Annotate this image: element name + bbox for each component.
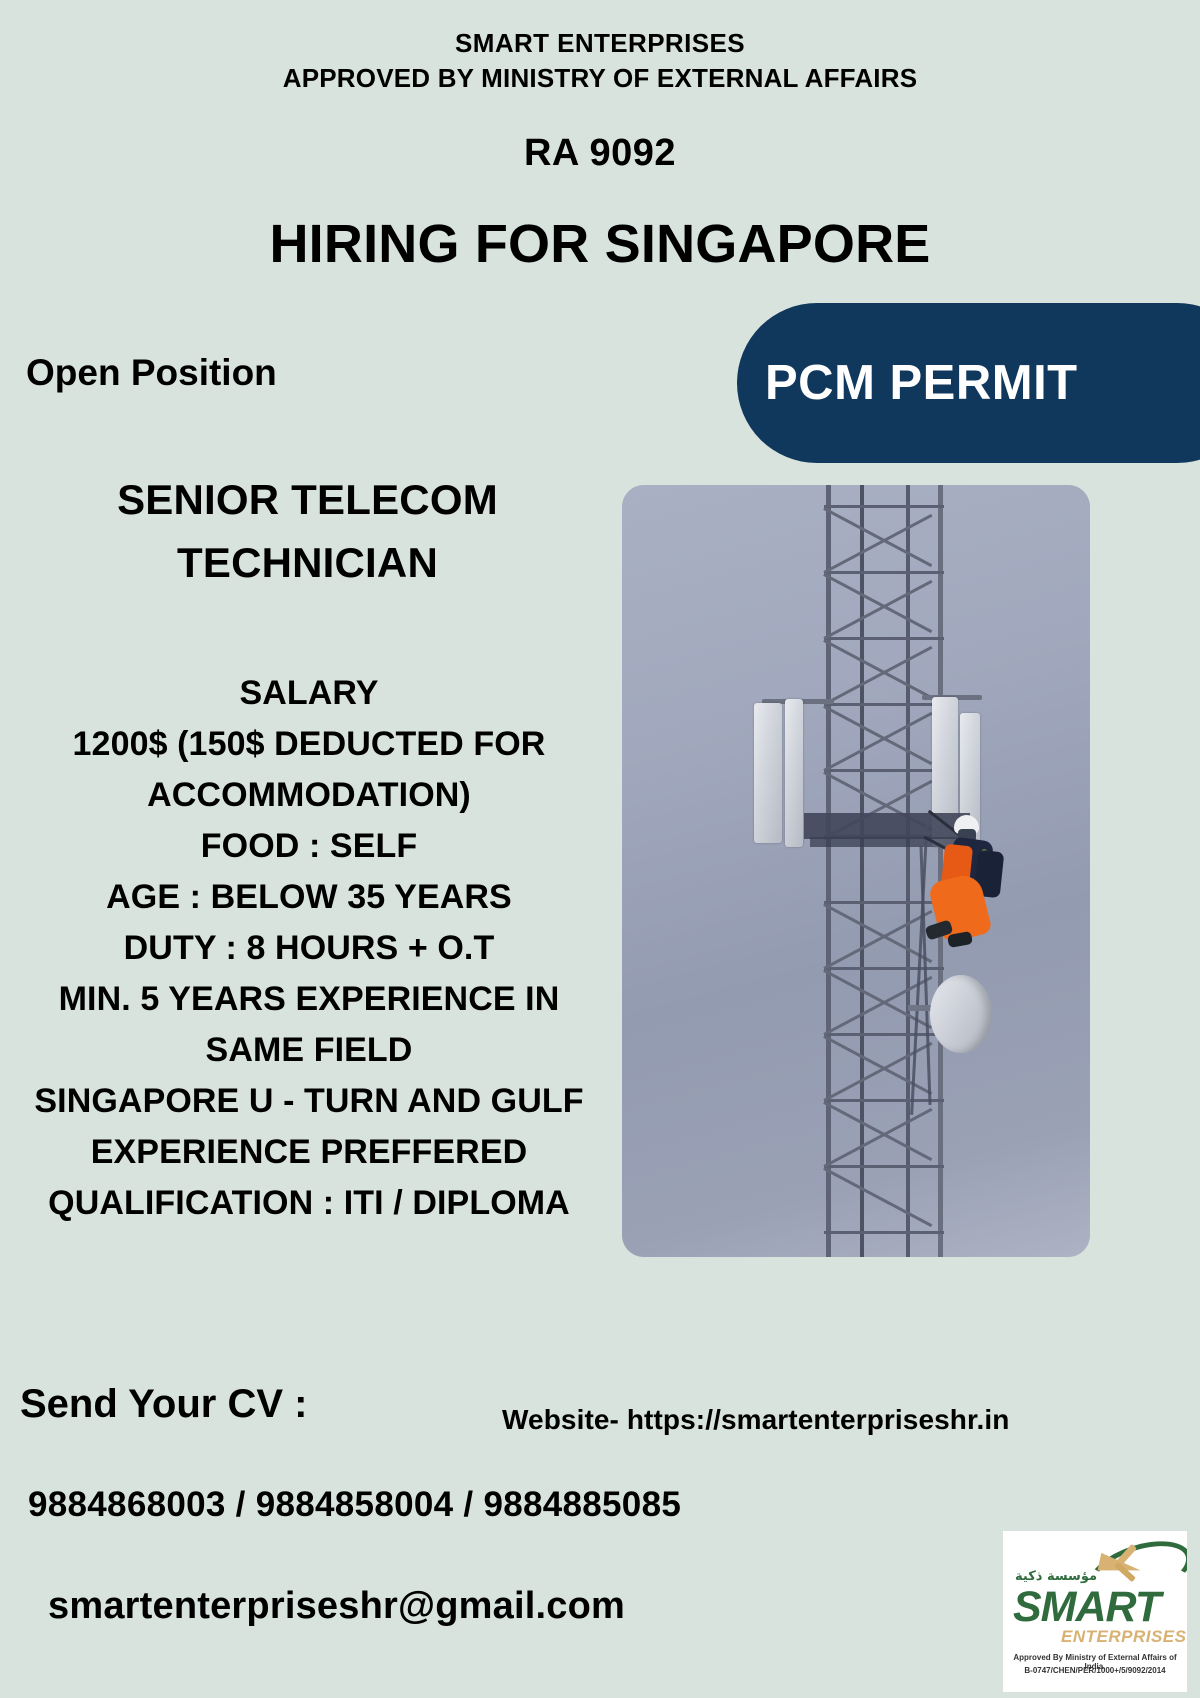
detail-line: FOOD : SELF: [0, 821, 618, 872]
detail-line: EXPERIENCE PREFFERED: [0, 1127, 618, 1178]
microwave-dish: [930, 975, 992, 1053]
detail-line: ACCOMMODATION): [0, 770, 618, 821]
tower-climber-worker: [918, 815, 1014, 955]
detail-line: MIN. 5 YEARS EXPERIENCE IN: [0, 974, 618, 1025]
panel-antenna: [785, 699, 803, 847]
detail-line: DUTY : 8 HOURS + O.T: [0, 923, 618, 974]
company-logo: مؤسسة ذكية SMART ENTERPRISES Approved By…: [1003, 1531, 1187, 1692]
job-title: SENIOR TELECOM TECHNICIAN: [0, 468, 615, 594]
logo-wordmark: SMART: [1013, 1586, 1160, 1629]
detail-line: SINGAPORE U - TURN AND GULF: [0, 1076, 618, 1127]
detail-line: SAME FIELD: [0, 1025, 618, 1076]
telecom-tower-photo: [622, 485, 1090, 1257]
recruitment-poster: SMART ENTERPRISES APPROVED BY MINISTRY O…: [0, 0, 1200, 1698]
ra-number: RA 9092: [0, 132, 1200, 175]
open-position-label: Open Position: [26, 352, 277, 394]
organization-name: SMART ENTERPRISES: [0, 26, 1200, 61]
page-title: HIRING FOR SINGAPORE: [0, 213, 1200, 275]
organization-approval-line: APPROVED BY MINISTRY OF EXTERNAL AFFAIRS: [0, 61, 1200, 96]
logo-registration-number: B-0747/CHEN/PER/1000+/5/9092/2014: [1003, 1666, 1187, 1675]
logo-arabic-text: مؤسسة ذكية: [1015, 1569, 1097, 1584]
website-link[interactable]: Website- https://smartenterpriseshr.in: [502, 1404, 1009, 1436]
status-badge: PCM PERMIT: [737, 303, 1200, 463]
detail-line: AGE : BELOW 35 YEARS: [0, 872, 618, 923]
job-details-list: SALARY 1200$ (150$ DEDUCTED FOR ACCOMMOD…: [0, 668, 618, 1229]
poster-header: SMART ENTERPRISES APPROVED BY MINISTRY O…: [0, 0, 1200, 275]
send-cv-label: Send Your CV :: [20, 1382, 307, 1427]
job-title-line-2: TECHNICIAN: [0, 531, 615, 594]
phone-numbers[interactable]: 9884868003 / 9884858004 / 9884885085: [28, 1485, 681, 1525]
permit-badge-label: PCM PERMIT: [765, 355, 1078, 411]
logo-subwordmark: ENTERPRISES: [1061, 1627, 1186, 1647]
job-title-line-1: SENIOR TELECOM: [0, 468, 615, 531]
panel-antenna: [754, 703, 782, 843]
detail-line: QUALIFICATION : ITI / DIPLOMA: [0, 1178, 618, 1229]
email-address[interactable]: smartenterpriseshr@gmail.com: [48, 1585, 625, 1628]
detail-line: SALARY: [0, 668, 618, 719]
detail-line: 1200$ (150$ DEDUCTED FOR: [0, 719, 618, 770]
